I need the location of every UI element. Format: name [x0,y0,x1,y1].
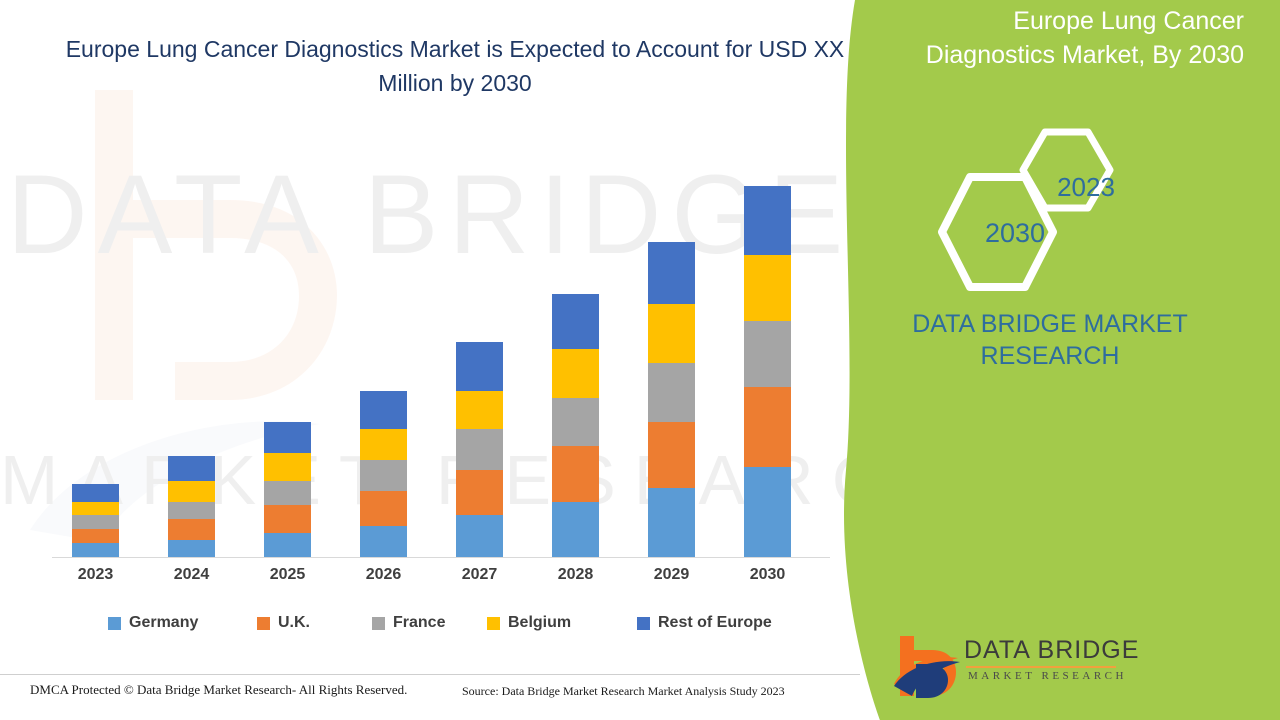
bar-segment-germany [72,543,119,557]
bar-segment-germany [168,540,215,557]
bar-2030 [744,186,791,557]
bar-segment-rest-of-europe [552,294,599,349]
bar-segment-rest-of-europe [168,456,215,480]
infographic-canvas: DATA BRIDGE MARKET RESEARCH Europe Lung … [0,0,1280,720]
bar-segment-u-k [264,505,311,533]
logo-tagline: MARKET RESEARCH [968,670,1127,682]
chart-legend: GermanyU.K.FranceBelgiumRest of Europe [52,614,842,644]
bar-segment-france [648,363,695,422]
brand-name-text: DATA BRIDGE MARKET RESEARCH [840,308,1260,372]
bar-segment-rest-of-europe [72,484,119,501]
logo-mark-icon [892,634,962,700]
bar-segment-france [168,502,215,519]
legend-label: U.K. [278,614,310,632]
legend-swatch-icon [372,617,385,630]
bar-2026 [360,391,407,557]
bar-segment-u-k [168,519,215,540]
bar-segment-france [360,460,407,491]
company-logo: DATA BRIDGE MARKET RESEARCH [892,630,1122,700]
logo-divider [966,666,1116,668]
x-tick-2028: 2028 [552,566,599,584]
bar-segment-france [456,429,503,471]
x-tick-2027: 2027 [456,566,503,584]
chart-plot-area [52,140,830,558]
bar-segment-belgium [648,304,695,363]
legend-label: Belgium [508,614,571,632]
legend-label: France [393,614,445,632]
bar-2028 [552,294,599,557]
bar-segment-belgium [456,391,503,429]
bar-segment-belgium [360,429,407,460]
legend-item-belgium[interactable]: Belgium [487,614,571,632]
bar-segment-belgium [168,481,215,502]
bar-2023 [72,484,119,557]
brand-panel: Europe Lung Cancer Diagnostics Market, B… [820,0,1280,720]
bar-segment-u-k [456,470,503,515]
source-text: Source: Data Bridge Market Research Mark… [462,684,785,699]
copyright-text: DMCA Protected © Data Bridge Market Rese… [30,682,407,698]
legend-swatch-icon [487,617,500,630]
bar-segment-rest-of-europe [360,391,407,429]
bar-segment-u-k [648,422,695,488]
bar-2025 [264,422,311,557]
legend-swatch-icon [257,617,270,630]
bar-segment-belgium [264,453,311,481]
x-tick-2025: 2025 [264,566,311,584]
bar-2024 [168,456,215,557]
bar-segment-rest-of-europe [264,422,311,453]
bar-segment-germany [552,502,599,557]
legend-swatch-icon [108,617,121,630]
legend-label: Germany [129,614,198,632]
bar-segment-rest-of-europe [456,342,503,391]
legend-item-germany[interactable]: Germany [108,614,198,632]
x-tick-2024: 2024 [168,566,215,584]
bar-segment-germany [264,533,311,557]
bar-segment-u-k [744,387,791,467]
x-axis-tick-labels: 20232024202520262027202820292030 [52,566,830,594]
bar-segment-belgium [744,255,791,321]
x-tick-2029: 2029 [648,566,695,584]
panel-title: Europe Lung Cancer Diagnostics Market, B… [894,4,1244,72]
x-axis-line [52,557,830,558]
bar-2027 [456,342,503,557]
bar-segment-germany [360,526,407,557]
legend-label: Rest of Europe [658,614,772,632]
bar-segment-germany [744,467,791,557]
legend-item-rest-of-europe[interactable]: Rest of Europe [637,614,772,632]
bar-segment-rest-of-europe [744,186,791,255]
bar-segment-france [264,481,311,505]
chart-title: Europe Lung Cancer Diagnostics Market is… [60,32,850,100]
bar-segment-germany [456,515,503,557]
bar-2029 [648,242,695,558]
footer-divider [0,674,860,675]
bar-segment-u-k [360,491,407,526]
legend-item-u-k[interactable]: U.K. [257,614,310,632]
legend-item-france[interactable]: France [372,614,445,632]
bar-segment-u-k [72,529,119,543]
bar-segment-france [72,515,119,529]
bar-segment-france [744,321,791,387]
bar-segment-france [552,398,599,447]
bar-segment-belgium [72,502,119,516]
logo-wordmark: DATA BRIDGE [964,636,1139,665]
hexagon-2030-label: 2030 [960,218,1070,249]
legend-swatch-icon [637,617,650,630]
bar-segment-germany [648,488,695,557]
x-tick-2023: 2023 [72,566,119,584]
bar-segment-belgium [552,349,599,398]
x-tick-2026: 2026 [360,566,407,584]
bar-segment-rest-of-europe [648,242,695,304]
x-tick-2030: 2030 [744,566,791,584]
hexagon-2023-label: 2023 [1036,172,1136,203]
bar-segment-u-k [552,446,599,501]
